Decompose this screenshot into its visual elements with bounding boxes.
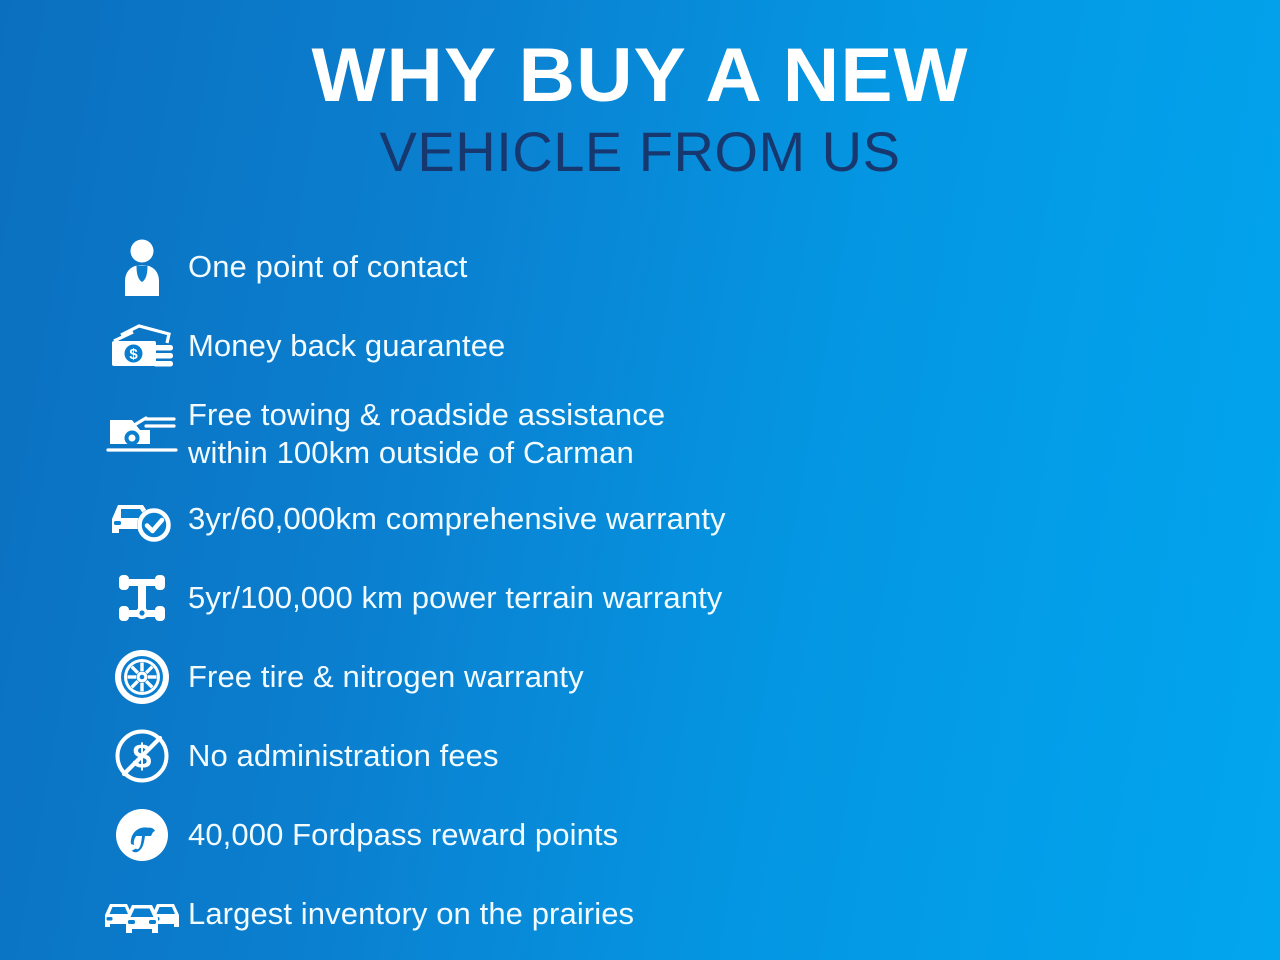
benefits-list: One point of contact $: [0, 236, 1280, 945]
page-subtitle: VEHICLE FROM US: [0, 124, 1280, 180]
list-item: One point of contact: [96, 236, 1280, 298]
person-icon: [96, 236, 188, 298]
fordpass-logo-icon: [96, 804, 188, 866]
list-item-label: Free towing & roadside assistance within…: [188, 396, 665, 472]
list-item-label: 40,000 Fordpass reward points: [188, 816, 618, 854]
list-item-label: No administration fees: [188, 737, 499, 775]
list-item-label: Free tire & nitrogen warranty: [188, 658, 584, 696]
page-title: WHY BUY A NEW: [0, 38, 1280, 114]
list-item-label: Money back guarantee: [188, 327, 505, 365]
tire-wheel-icon: [96, 646, 188, 708]
list-item-label: 5yr/100,000 km power terrain warranty: [188, 579, 722, 617]
money-cash-icon: $: [96, 315, 188, 377]
promo-poster: WHY BUY A NEW VEHICLE FROM US One point …: [0, 0, 1280, 960]
list-item: $ No administration fees: [96, 725, 1280, 787]
list-item-label: One point of contact: [188, 248, 467, 286]
chassis-axle-icon: [96, 567, 188, 629]
tow-truck-icon: [96, 403, 188, 465]
list-item-label: 3yr/60,000km comprehensive warranty: [188, 500, 726, 538]
list-item: Largest inventory on the prairies: [96, 883, 1280, 945]
svg-text:$: $: [129, 346, 138, 363]
list-item: Free towing & roadside assistance within…: [96, 394, 1280, 474]
no-fee-dollar-icon: $: [96, 725, 188, 787]
car-check-icon: [96, 488, 188, 550]
list-item: 40,000 Fordpass reward points: [96, 804, 1280, 866]
list-item: Free tire & nitrogen warranty: [96, 646, 1280, 708]
list-item: 3yr/60,000km comprehensive warranty: [96, 488, 1280, 550]
list-item: $ Money back guarantee: [96, 315, 1280, 377]
list-item-label: Largest inventory on the prairies: [188, 895, 634, 933]
multiple-cars-icon: [96, 883, 188, 945]
poster-header: WHY BUY A NEW VEHICLE FROM US: [0, 0, 1280, 180]
list-item: 5yr/100,000 km power terrain warranty: [96, 567, 1280, 629]
